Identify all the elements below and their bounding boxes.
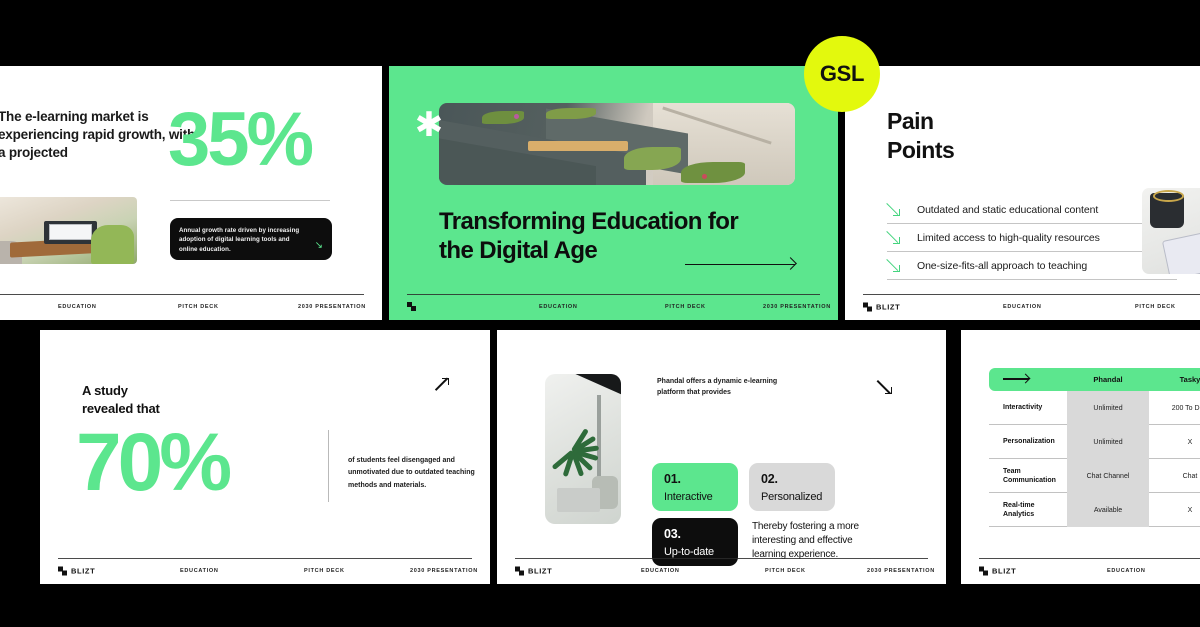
card-number: 02. bbox=[761, 472, 823, 486]
slide1-photo bbox=[0, 197, 137, 264]
arrow-down-right-icon bbox=[887, 231, 900, 244]
logo-mark-icon bbox=[58, 567, 67, 576]
slide4-divider bbox=[328, 430, 329, 502]
slide5-footer-presentation: 2030 PRESENTATION bbox=[867, 568, 935, 574]
slide-title-green[interactable]: ✱ Transforming Education for the Digital… bbox=[389, 66, 838, 320]
list-item: Outdated and static educational content bbox=[887, 196, 1177, 224]
slide3-logo-text: BLIZT bbox=[876, 303, 900, 312]
table-col-phandal: Phandal bbox=[1067, 375, 1149, 384]
slide5-footer-pitchdeck: PITCH DECK bbox=[765, 568, 806, 574]
arrow-down-right-icon bbox=[878, 380, 892, 394]
slide3-heading-line1: Pain bbox=[887, 107, 954, 136]
slide4-kicker-line1: A study bbox=[82, 382, 160, 400]
slide-stat-70[interactable]: A study revealed that 70% of students fe… bbox=[40, 330, 490, 584]
logo-mark-icon bbox=[863, 303, 872, 312]
slide3-logo: BLIZT bbox=[863, 303, 900, 312]
table-cell-phandal: Unlimited bbox=[1067, 391, 1149, 425]
table-row: Interactivity Unlimited 200 To Do's bbox=[989, 391, 1200, 425]
slide5-footer-education: EDUCATION bbox=[641, 568, 680, 574]
table-col-tasky: Tasky bbox=[1149, 375, 1200, 384]
table-row: Real-time Analytics Available X bbox=[989, 493, 1200, 527]
table-cell-phandal: Chat Channel bbox=[1067, 459, 1149, 493]
gsl-badge-label: GSL bbox=[820, 61, 864, 87]
table-cell-tasky: 200 To Do's bbox=[1149, 405, 1200, 412]
slide3-footer-pitchdeck: PITCH DECK bbox=[1135, 304, 1176, 310]
table-body: Interactivity Unlimited 200 To Do's Pers… bbox=[989, 391, 1200, 527]
gsl-badge[interactable]: GSL bbox=[804, 36, 880, 112]
slide3-heading: Pain Points bbox=[887, 107, 954, 166]
slide2-footer: EDUCATION PITCH DECK 2030 PRESENTATION bbox=[389, 294, 838, 320]
slide-platform-cards[interactable]: Phandal offers a dynamic e-learning plat… bbox=[497, 330, 946, 584]
slide3-pain-list: Outdated and static educational content … bbox=[887, 196, 1177, 280]
table-row-label: Real-time Analytics bbox=[989, 501, 1067, 520]
asterisk-icon: ✱ bbox=[413, 110, 445, 142]
arrow-up-right-icon bbox=[435, 378, 449, 392]
slide-stat-35[interactable]: The e-learning market is experiencing ra… bbox=[0, 66, 382, 320]
arrow-right-icon bbox=[989, 371, 1067, 389]
slide2-footer-presentation: 2030 PRESENTATION bbox=[763, 304, 831, 310]
slide5-logo: BLIZT bbox=[515, 567, 552, 576]
slide-comparison-table[interactable]: Phandal Tasky Interactivity Unlimited 20… bbox=[961, 330, 1200, 584]
slide3-heading-line2: Points bbox=[887, 136, 954, 165]
slide5-photo bbox=[545, 374, 621, 524]
arrow-down-right-icon bbox=[887, 259, 900, 272]
table-row-label: Personalization bbox=[989, 437, 1067, 446]
slide4-logo: BLIZT bbox=[58, 567, 95, 576]
slide1-footer-education: EDUCATION bbox=[58, 304, 97, 310]
table-header-row: Phandal Tasky bbox=[989, 368, 1200, 391]
slide4-body-text: of students feel disengaged and unmotiva… bbox=[348, 455, 490, 492]
slide4-footer-pitchdeck: PITCH DECK bbox=[304, 568, 345, 574]
table-cell-phandal: Unlimited bbox=[1067, 425, 1149, 459]
slide1-stat-value: 35% bbox=[168, 102, 311, 178]
slide4-stat-value: 70% bbox=[76, 422, 228, 504]
card-number: 01. bbox=[664, 472, 726, 486]
long-arrow-right-icon bbox=[685, 258, 795, 270]
card-number: 03. bbox=[664, 527, 726, 541]
comparison-table: Phandal Tasky Interactivity Unlimited 20… bbox=[989, 368, 1200, 527]
card-title: Personalized bbox=[761, 491, 823, 503]
list-item-label: Outdated and static educational content bbox=[917, 204, 1098, 216]
slide3-footer-education: EDUCATION bbox=[1003, 304, 1042, 310]
card-title: Interactive bbox=[664, 491, 726, 503]
slide1-note-text: Annual growth rate driven by increasing … bbox=[179, 226, 304, 254]
slide1-footer-pitchdeck: PITCH DECK bbox=[178, 304, 219, 310]
table-cell-tasky: X bbox=[1149, 439, 1200, 446]
list-item: Limited access to high-quality resources bbox=[887, 224, 1177, 252]
table-row: Personalization Unlimited X bbox=[989, 425, 1200, 459]
list-item: One-size-fits-all approach to teaching bbox=[887, 252, 1177, 280]
slide5-logo-text: BLIZT bbox=[528, 567, 552, 576]
logo-mark-icon bbox=[515, 567, 524, 576]
arrow-down-right-icon bbox=[887, 203, 900, 216]
list-item-label: Limited access to high-quality resources bbox=[917, 232, 1100, 244]
card-02-personalized[interactable]: 02. Personalized bbox=[749, 463, 835, 511]
slide-pain-points[interactable]: Pain Points Outdated and static educatio… bbox=[845, 66, 1200, 320]
slide2-logo-mark bbox=[407, 298, 416, 316]
table-cell-tasky: Chat bbox=[1149, 473, 1200, 480]
slide1-divider bbox=[170, 200, 330, 201]
table-cell-phandal: Available bbox=[1067, 493, 1149, 527]
table-row-label: Team Communication bbox=[989, 467, 1067, 486]
slide1-footer: EDUCATION PITCH DECK 2030 PRESENTATION bbox=[0, 294, 382, 320]
card-title: Up-to-date bbox=[664, 546, 726, 558]
slide3-footer: BLIZT EDUCATION PITCH DECK bbox=[845, 294, 1200, 320]
slide2-title: Transforming Education for the Digital A… bbox=[439, 207, 769, 266]
slide1-footer-presentation: 2030 PRESENTATION bbox=[298, 304, 366, 310]
slide4-footer: BLIZT EDUCATION PITCH DECK 2030 PRESENTA… bbox=[40, 558, 490, 584]
slide4-footer-education: EDUCATION bbox=[180, 568, 219, 574]
card-01-interactive[interactable]: 01. Interactive bbox=[652, 463, 738, 511]
table-row: Team Communication Chat Channel Chat bbox=[989, 459, 1200, 493]
slide2-footer-pitchdeck: PITCH DECK bbox=[665, 304, 706, 310]
slide6-logo: BLIZT bbox=[979, 567, 1016, 576]
slide4-kicker: A study revealed that bbox=[82, 382, 160, 417]
slide4-footer-presentation: 2030 PRESENTATION bbox=[410, 568, 478, 574]
slide2-hero-photo bbox=[439, 103, 795, 185]
presentation-thumbnail-grid: The e-learning market is experiencing ra… bbox=[0, 0, 1200, 627]
table-cell-tasky: X bbox=[1149, 507, 1200, 514]
arrow-down-right-icon: ↘ bbox=[315, 241, 323, 251]
list-item-label: One-size-fits-all approach to teaching bbox=[917, 260, 1087, 272]
slide1-note-card: Annual growth rate driven by increasing … bbox=[170, 218, 332, 260]
slide6-logo-text: BLIZT bbox=[992, 567, 1016, 576]
slide5-footer: BLIZT EDUCATION PITCH DECK 2030 PRESENTA… bbox=[497, 558, 946, 584]
table-row-label: Interactivity bbox=[989, 403, 1067, 412]
slide4-logo-text: BLIZT bbox=[71, 567, 95, 576]
logo-mark-icon bbox=[979, 567, 988, 576]
slide2-footer-education: EDUCATION bbox=[539, 304, 578, 310]
slide4-kicker-line2: revealed that bbox=[82, 400, 160, 418]
slide5-closing-text: Thereby fostering a more interesting and… bbox=[752, 520, 882, 563]
slide3-photo bbox=[1142, 188, 1200, 274]
slide6-footer-education: EDUCATION bbox=[1107, 568, 1146, 574]
slide6-footer: BLIZT EDUCATION bbox=[961, 558, 1200, 584]
slide5-intro-text: Phandal offers a dynamic e-learning plat… bbox=[657, 376, 807, 399]
